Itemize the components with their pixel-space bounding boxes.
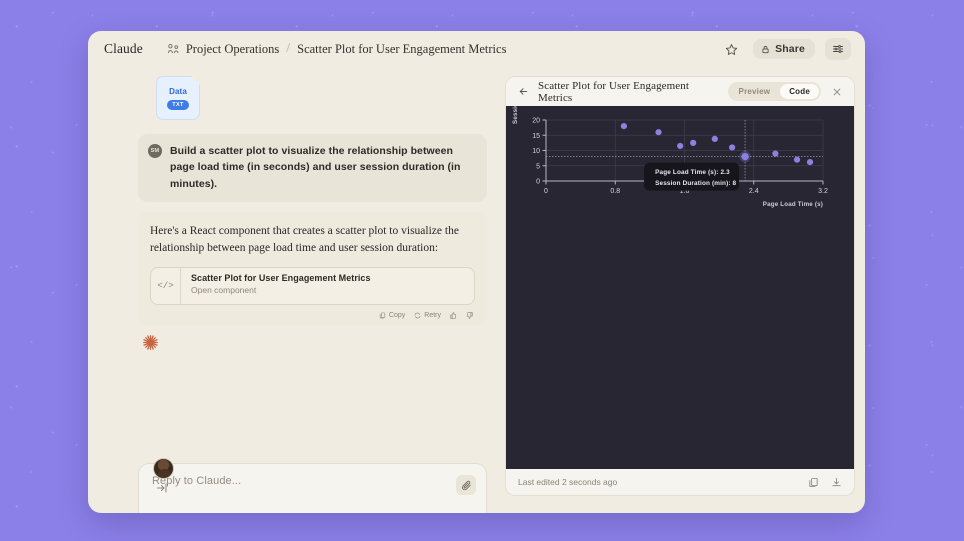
project-icon — [167, 43, 180, 56]
sliders-icon — [832, 43, 844, 55]
close-icon — [832, 87, 842, 97]
breadcrumb-project[interactable]: Project Operations — [186, 42, 279, 57]
attachment-card[interactable]: Data TXT — [156, 76, 200, 120]
y-tick-label: 0 — [536, 179, 540, 186]
artifact-footer: Last edited 2 seconds ago — [506, 469, 854, 495]
close-button[interactable] — [830, 87, 844, 97]
retry-label: Retry — [424, 312, 441, 319]
copy-icon — [808, 477, 819, 488]
y-tick-label: 20 — [532, 118, 540, 125]
paperclip-icon — [461, 480, 472, 491]
x-tick-label: 0.8 — [610, 188, 620, 195]
artifact-title: Scatter Plot for User Engagement Metrics — [538, 80, 719, 104]
view-mode-toggle: Preview Code — [728, 82, 821, 101]
user-message: SM Build a scatter plot to visualize the… — [138, 134, 487, 202]
share-label: Share — [775, 43, 805, 55]
artifact-panel: Scatter Plot for User Engagement Metrics… — [505, 76, 855, 496]
code-icon: </> — [151, 268, 181, 304]
data-point — [772, 150, 778, 156]
footer-download-button[interactable] — [831, 477, 842, 488]
user-avatar-initials: SM — [148, 144, 162, 158]
app-window: Claude Project Operations / Scatter Plot… — [88, 31, 865, 513]
reply-placeholder: Reply to Claude... — [152, 475, 456, 487]
y-tick-label: 15 — [532, 133, 540, 140]
artifact-card-subtitle: Open component — [191, 285, 371, 295]
footer-copy-button[interactable] — [808, 477, 819, 488]
y-tick-label: 10 — [532, 148, 540, 155]
breadcrumb: Project Operations / Scatter Plot for Us… — [167, 41, 507, 57]
thumbs-up-icon — [450, 312, 457, 319]
message-actions: Copy Retry — [150, 312, 475, 319]
assistant-message: Here's a React component that creates a … — [138, 212, 487, 326]
chat-pane: Data TXT SM Build a scatter plot to visu… — [88, 67, 505, 513]
download-icon — [831, 477, 842, 488]
last-edited-status: Last edited 2 seconds ago — [518, 477, 617, 487]
tooltip-line-2: Session Duration (min): 8 — [655, 180, 736, 187]
artifact-header: Scatter Plot for User Engagement Metrics… — [506, 77, 854, 106]
user-message-text: Build a scatter plot to visualize the re… — [170, 143, 475, 192]
thumbs-down-button[interactable] — [466, 312, 473, 319]
artifact-preview-card[interactable]: </> Scatter Plot for User Engagement Met… — [150, 267, 475, 305]
x-tick-label: 3.2 — [818, 188, 828, 195]
data-point — [655, 129, 661, 135]
arrow-left-icon — [518, 86, 529, 97]
app-brand: Claude — [104, 41, 143, 57]
copy-button[interactable]: Copy — [379, 312, 405, 319]
attachment-title: Data — [169, 87, 187, 96]
lock-icon — [761, 45, 770, 54]
artifact-card-meta: Scatter Plot for User Engagement Metrics… — [181, 268, 371, 304]
data-point — [729, 144, 735, 150]
share-button[interactable]: Share — [753, 39, 815, 59]
back-button[interactable] — [518, 86, 529, 97]
tab-code[interactable]: Code — [780, 84, 819, 99]
data-point — [690, 140, 696, 146]
reply-input[interactable]: Reply to Claude... — [138, 463, 487, 513]
scatter-chart[interactable]: 0510152000.81.62.43.2Page Load Time (s)S… — [506, 106, 849, 471]
breadcrumb-separator: / — [285, 41, 291, 57]
copy-icon — [379, 312, 386, 319]
x-tick-label: 0 — [544, 188, 548, 195]
x-tick-label: 2.4 — [749, 188, 759, 195]
composer-area: Reply to Claude... — [138, 463, 487, 513]
data-point — [741, 153, 748, 160]
attach-file-button[interactable] — [456, 475, 476, 495]
y-tick-label: 5 — [536, 163, 540, 170]
attachment-type-badge: TXT — [167, 100, 189, 110]
y-axis-label: Session Duration (min) — [512, 106, 519, 124]
x-axis-label: Page Load Time (s) — [763, 201, 823, 208]
data-point — [621, 123, 627, 129]
thumbs-down-icon — [466, 312, 473, 319]
data-point — [677, 143, 683, 149]
avatar[interactable] — [153, 458, 174, 479]
star-button[interactable] — [719, 37, 743, 61]
window-body: Data TXT SM Build a scatter plot to visu… — [88, 67, 865, 513]
assistant-message-text: Here's a React component that creates a … — [150, 223, 475, 258]
data-point — [807, 159, 813, 165]
top-bar: Claude Project Operations / Scatter Plot… — [88, 31, 865, 67]
artifact-card-title: Scatter Plot for User Engagement Metrics — [191, 273, 371, 283]
settings-button[interactable] — [825, 38, 851, 60]
artifact-pane: Scatter Plot for User Engagement Metrics… — [505, 67, 865, 513]
sidebar-expand-icon[interactable] — [156, 481, 168, 499]
tooltip-line-1: Page Load Time (s): 2.3 — [655, 169, 730, 176]
retry-button[interactable]: Retry — [414, 312, 441, 319]
thumbs-up-button[interactable] — [450, 312, 457, 319]
artifact-canvas: 0510152000.81.62.43.2Page Load Time (s)S… — [506, 106, 854, 469]
star-icon — [725, 43, 738, 56]
claude-sunburst-logo — [142, 334, 487, 356]
breadcrumb-current[interactable]: Scatter Plot for User Engagement Metrics — [297, 42, 506, 57]
data-point — [794, 157, 800, 163]
copy-label: Copy — [389, 312, 405, 319]
retry-icon — [414, 312, 421, 319]
data-point — [712, 136, 718, 142]
tab-preview[interactable]: Preview — [730, 84, 780, 99]
